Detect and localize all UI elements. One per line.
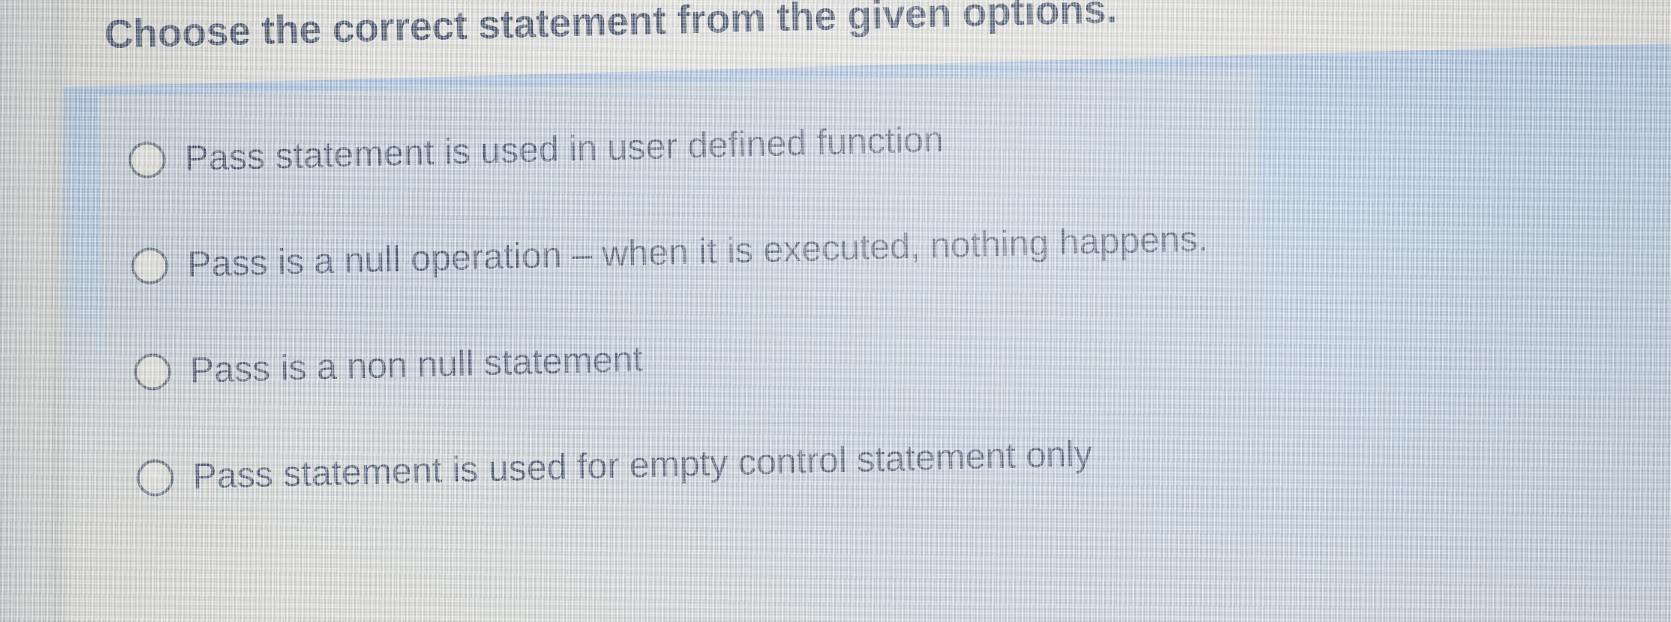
option-label-3: Pass is a non null statement — [190, 340, 644, 389]
option-label-2: Pass is a null operation – when it is ex… — [187, 220, 1209, 284]
radio-unchecked-icon[interactable] — [131, 247, 169, 285]
option-row-2[interactable]: Pass is a null operation – when it is ex… — [131, 213, 1209, 292]
option-label-1: Pass statement is used in user defined f… — [184, 120, 944, 177]
options-list: Pass statement is used in user defined f… — [128, 107, 1214, 504]
question-title: Choose the correct statement from the gi… — [104, 0, 1118, 57]
radio-unchecked-icon[interactable] — [134, 352, 172, 390]
option-row-3[interactable]: Pass is a non null statement — [133, 319, 1211, 398]
question-content: Choose the correct statement from the gi… — [0, 0, 1671, 622]
radio-unchecked-icon[interactable] — [136, 458, 174, 496]
option-row-4[interactable]: Pass statement is used for empty control… — [136, 425, 1214, 504]
option-label-4: Pass statement is used for empty control… — [192, 435, 1093, 496]
screenshot-root: Choose the correct statement from the gi… — [0, 0, 1671, 622]
radio-unchecked-icon[interactable] — [128, 141, 166, 179]
option-row-1[interactable]: Pass statement is used in user defined f… — [128, 107, 1206, 186]
